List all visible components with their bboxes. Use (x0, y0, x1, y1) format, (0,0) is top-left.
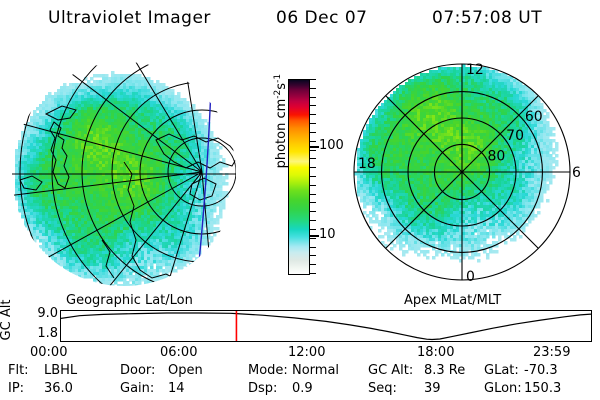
status-label: Mode: (248, 363, 288, 378)
colorbar-minor-tick (310, 150, 316, 151)
altitude-trace (61, 313, 591, 340)
orbit-x-tick-label: 00:00 (30, 345, 67, 360)
status-label: Dsp: (248, 381, 277, 396)
colorbar-minor-tick (310, 105, 316, 106)
mlt-label-18: 18 (358, 156, 376, 172)
mlat-mlt-grid (354, 64, 570, 280)
orbit-y-tick-label: 1.8 (37, 326, 58, 341)
colorbar-tick-label: 10 (319, 228, 336, 241)
colorbar-minor-tick (310, 167, 316, 168)
orbit-x-tick-label: 06:00 (160, 345, 197, 360)
colorbar-unit-prefix: photon cm (274, 99, 289, 169)
status-value: 14 (168, 381, 185, 396)
mlat-label-60: 60 (525, 109, 543, 125)
colorbar-axis-label: photon cm-2s-1 (273, 51, 289, 191)
orbit-x-tick-label: 23:59 (533, 345, 570, 360)
observation-time: 07:57:08 UT (432, 8, 542, 28)
orbit-x-tick-label: 12:00 (288, 345, 325, 360)
colorbar-unit-exp2: -1 (273, 74, 283, 83)
apex-image-panel[interactable]: 126018607080 (338, 44, 588, 296)
colorbar-major-tick (310, 146, 319, 148)
colorbar-unit-exp1: -2 (273, 90, 283, 99)
geographic-panel-caption: Geographic Lat/Lon (66, 293, 193, 308)
status-value: 36.0 (44, 381, 73, 396)
header-bar: Ultraviolet Imager 06 Dec 07 07:57:08 UT (0, 6, 600, 34)
colorbar: 10010 photon cm-2s-1 (255, 55, 335, 295)
status-label: GLon: (484, 381, 522, 396)
status-value: Open (168, 363, 203, 378)
colorbar-minor-tick (310, 273, 316, 274)
status-footer: Flt:LBHLDoor:OpenMode:NormalGC Alt:8.3 R… (0, 363, 600, 399)
colorbar-minor-tick (310, 123, 316, 124)
colorbar-minor-tick (310, 238, 316, 239)
status-value: -70.3 (524, 363, 558, 378)
orbit-x-tick-label: 18:00 (417, 345, 454, 360)
colorbar-major-tick (310, 235, 319, 237)
status-value: 8.3 Re (424, 363, 465, 378)
status-value: 39 (424, 381, 441, 396)
status-label: GC Alt: (368, 363, 413, 378)
status-label: Seq: (368, 381, 397, 396)
observation-date: 06 Dec 07 (276, 8, 367, 28)
colorbar-unit-mid: s (274, 83, 289, 90)
colorbar-minor-tick (310, 229, 316, 230)
colorbar-minor-tick (310, 114, 316, 115)
status-value: 150.3 (524, 381, 561, 396)
colorbar-minor-tick (310, 247, 316, 248)
colorbar-minor-tick (310, 220, 316, 221)
colorbar-minor-tick (310, 194, 316, 195)
status-label: IP: (8, 381, 24, 396)
colorbar-minor-tick (310, 97, 316, 98)
status-label: Flt: (8, 363, 29, 378)
colorbar-minor-tick (310, 255, 316, 256)
colorbar-minor-tick (310, 141, 316, 142)
apex-polar-plot: 126018607080 (338, 44, 588, 296)
colorbar-minor-tick (310, 132, 316, 133)
status-label: Gain: (120, 381, 154, 396)
mlat-label-70: 70 (506, 128, 524, 144)
status-label: GLat: (484, 363, 519, 378)
orbit-x-ticks: 00:0006:0012:0018:0023:59 (0, 345, 600, 361)
colorbar-minor-tick (310, 158, 316, 159)
mlt-label-0: 0 (466, 269, 475, 285)
colorbar-minor-tick (310, 79, 316, 80)
orbit-altitude-plot[interactable] (60, 310, 592, 342)
status-value: LBHL (44, 363, 77, 378)
apex-panel-caption: Apex MLat/MLT (404, 293, 501, 308)
colorbar-minor-tick (310, 211, 316, 212)
orbit-y-tick-label: 9.0 (37, 306, 58, 321)
orbit-altitude-curve (61, 311, 591, 341)
orbit-y-ticks: 9.01.8 (22, 306, 58, 342)
colorbar-minor-tick (310, 185, 316, 186)
geographic-image-panel[interactable] (6, 44, 264, 296)
mlt-label-6: 6 (572, 165, 581, 181)
colorbar-minor-tick (310, 88, 316, 89)
status-label: Door: (120, 363, 155, 378)
geographic-plot (6, 44, 264, 296)
mlat-label-80: 80 (487, 149, 505, 165)
colorbar-minor-tick (310, 202, 316, 203)
colorbar-minor-tick (310, 176, 316, 177)
instrument-title: Ultraviolet Imager (48, 8, 211, 28)
status-value: 0.9 (292, 381, 313, 396)
mlt-label-12: 12 (466, 62, 484, 78)
colorbar-gradient (288, 79, 310, 275)
status-value: Normal (292, 363, 339, 378)
colorbar-minor-tick (310, 264, 316, 265)
aurora-emission (354, 64, 558, 262)
